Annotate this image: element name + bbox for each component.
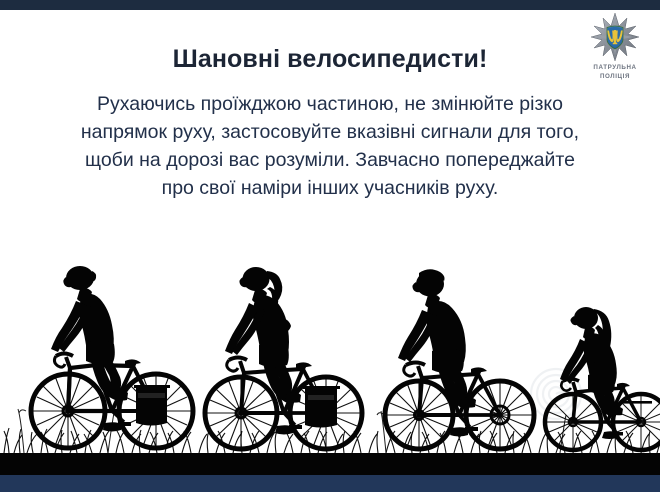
body-text-line-2: напрямок руху, застосовуйте вказівні сиг… <box>30 118 630 146</box>
patrol-police-logo: ПАТРУЛЬНА ПОЛІЦІЯ <box>579 12 651 82</box>
body-text-line-4: про свої наміри інших учасників руху. <box>30 174 630 202</box>
body-text-line-3: щоби на дорозі вас розуміли. Завчасно по… <box>30 146 630 174</box>
cyclists-silhouette-scene <box>0 225 660 475</box>
body-text-line-1: Рухаючись проїжджою частиною, не змінюйт… <box>30 90 630 118</box>
adult-man-cyclist <box>31 266 193 448</box>
boy-cyclist <box>385 269 534 449</box>
police-star-badge-icon <box>588 12 642 62</box>
logo-caption-line-2: ПОЛІЦІЯ <box>579 72 651 81</box>
message-block: Шановні велосипедисти! Рухаючись проїждж… <box>0 46 660 203</box>
page-title: Шановні велосипедисти! <box>0 46 660 74</box>
body-text: Рухаючись проїжджою частиною, не змінюйт… <box>30 90 630 203</box>
top-accent-bar <box>0 0 660 10</box>
bottom-accent-bar <box>0 474 660 492</box>
woman-cyclist-with-ponytail <box>205 267 362 449</box>
logo-caption: ПАТРУЛЬНА ПОЛІЦІЯ <box>579 63 651 82</box>
girl-cyclist <box>545 307 660 450</box>
logo-caption-line-1: ПАТРУЛЬНА <box>579 63 651 72</box>
poster-root: Шановні велосипедисти! Рухаючись проїждж… <box>0 0 660 492</box>
ground-strip <box>0 453 660 475</box>
